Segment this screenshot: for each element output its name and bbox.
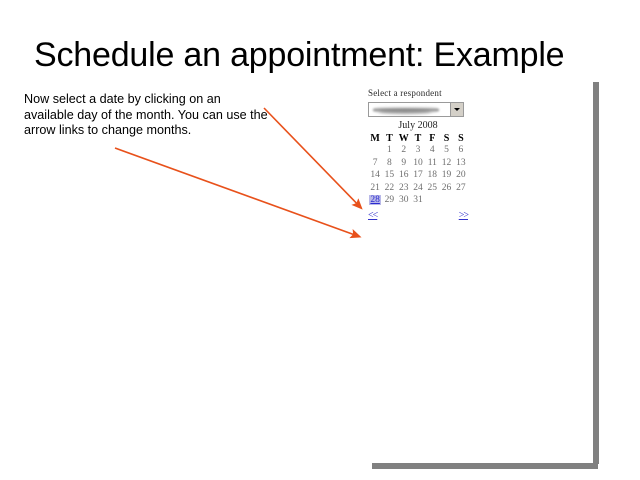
respondent-label: Select a respondent [368, 88, 472, 98]
calendar-day-cell: 11 [425, 157, 439, 170]
calendar-day-cell: 13 [454, 157, 468, 170]
weekday-header: S [454, 132, 468, 144]
calendar-day-cell [454, 194, 468, 207]
chevron-down-glyph [454, 108, 460, 111]
presentation-slide: Schedule an appointment: Example Now sel… [0, 0, 640, 480]
calendar-day-cell [425, 194, 439, 207]
calendar-day-cell: 14 [368, 169, 382, 182]
arrow-to-nav-links [115, 148, 359, 237]
calendar-day-cell: 20 [454, 169, 468, 182]
arrow-to-selected-day [264, 108, 361, 208]
calendar-day-cell [368, 144, 382, 157]
calendar-day-cell: 10 [411, 157, 425, 170]
calendar-day-cell: 15 [382, 169, 396, 182]
prev-month-link[interactable]: << [368, 210, 377, 221]
calendar-day-cell: 9 [397, 157, 411, 170]
calendar-day-cell: 31 [411, 194, 425, 207]
calendar-day-cell: 26 [439, 182, 453, 195]
calendar-day-cell: 18 [425, 169, 439, 182]
next-month-link[interactable]: >> [459, 210, 468, 221]
weekday-header: M [368, 132, 382, 144]
calendar-navigation: << >> [368, 210, 468, 221]
calendar-day-cell: 7 [368, 157, 382, 170]
respondent-select[interactable] [368, 102, 464, 117]
calendar-day-cell [439, 194, 453, 207]
weekday-header: F [425, 132, 439, 144]
calendar-day-cell: 17 [411, 169, 425, 182]
calendar-week-row: 7 8 9 10 11 12 13 [368, 157, 468, 170]
weekday-header: W [397, 132, 411, 144]
calendar-day-cell: 21 [368, 182, 382, 195]
weekday-header: S [439, 132, 453, 144]
calendar-week-row: 14 15 16 17 18 19 20 [368, 169, 468, 182]
calendar-day-cell: 16 [397, 169, 411, 182]
calendar-day-cell: 29 [382, 194, 396, 207]
calendar-day-link-selected[interactable]: 28 [369, 195, 381, 205]
calendar-day-cell: 12 [439, 157, 453, 170]
respondent-selected-value-redacted-core [379, 109, 431, 114]
calendar-day-cell: 8 [382, 157, 396, 170]
calendar-day-cell: 3 [411, 144, 425, 157]
calendar-day-cell: 30 [397, 194, 411, 207]
instruction-text: Now select a date by clicking on an avai… [24, 92, 268, 139]
page-title: Schedule an appointment: Example [34, 36, 614, 75]
calendar-month-title: July 2008 [368, 120, 468, 131]
slide-frame-shadow-right [593, 82, 599, 464]
calendar-day-cell: 23 [397, 182, 411, 195]
calendar-day-cell: 4 [425, 144, 439, 157]
calendar-widget: Select a respondent July 2008 M T W T F … [368, 88, 472, 221]
calendar-table: M T W T F S S 1 2 3 4 5 6 [368, 132, 468, 207]
calendar-day-cell: 25 [425, 182, 439, 195]
calendar-day-cell: 22 [382, 182, 396, 195]
slide-frame-shadow-bottom [372, 463, 598, 469]
calendar-day-cell: 6 [454, 144, 468, 157]
calendar-day-cell: 1 [382, 144, 396, 157]
calendar-day-cell: 5 [439, 144, 453, 157]
calendar-day-cell: 27 [454, 182, 468, 195]
calendar-day-cell: 24 [411, 182, 425, 195]
chevron-down-icon[interactable] [450, 103, 463, 116]
weekday-header: T [411, 132, 425, 144]
calendar-day-cell-selected[interactable]: 28 [368, 194, 382, 207]
calendar-week-row: 21 22 23 24 25 26 27 [368, 182, 468, 195]
calendar-weekday-header-row: M T W T F S S [368, 132, 468, 144]
calendar-week-row: 1 2 3 4 5 6 [368, 144, 468, 157]
weekday-header: T [382, 132, 396, 144]
calendar-week-row: 28 29 30 31 [368, 194, 468, 207]
calendar-day-cell: 19 [439, 169, 453, 182]
calendar-day-cell: 2 [397, 144, 411, 157]
